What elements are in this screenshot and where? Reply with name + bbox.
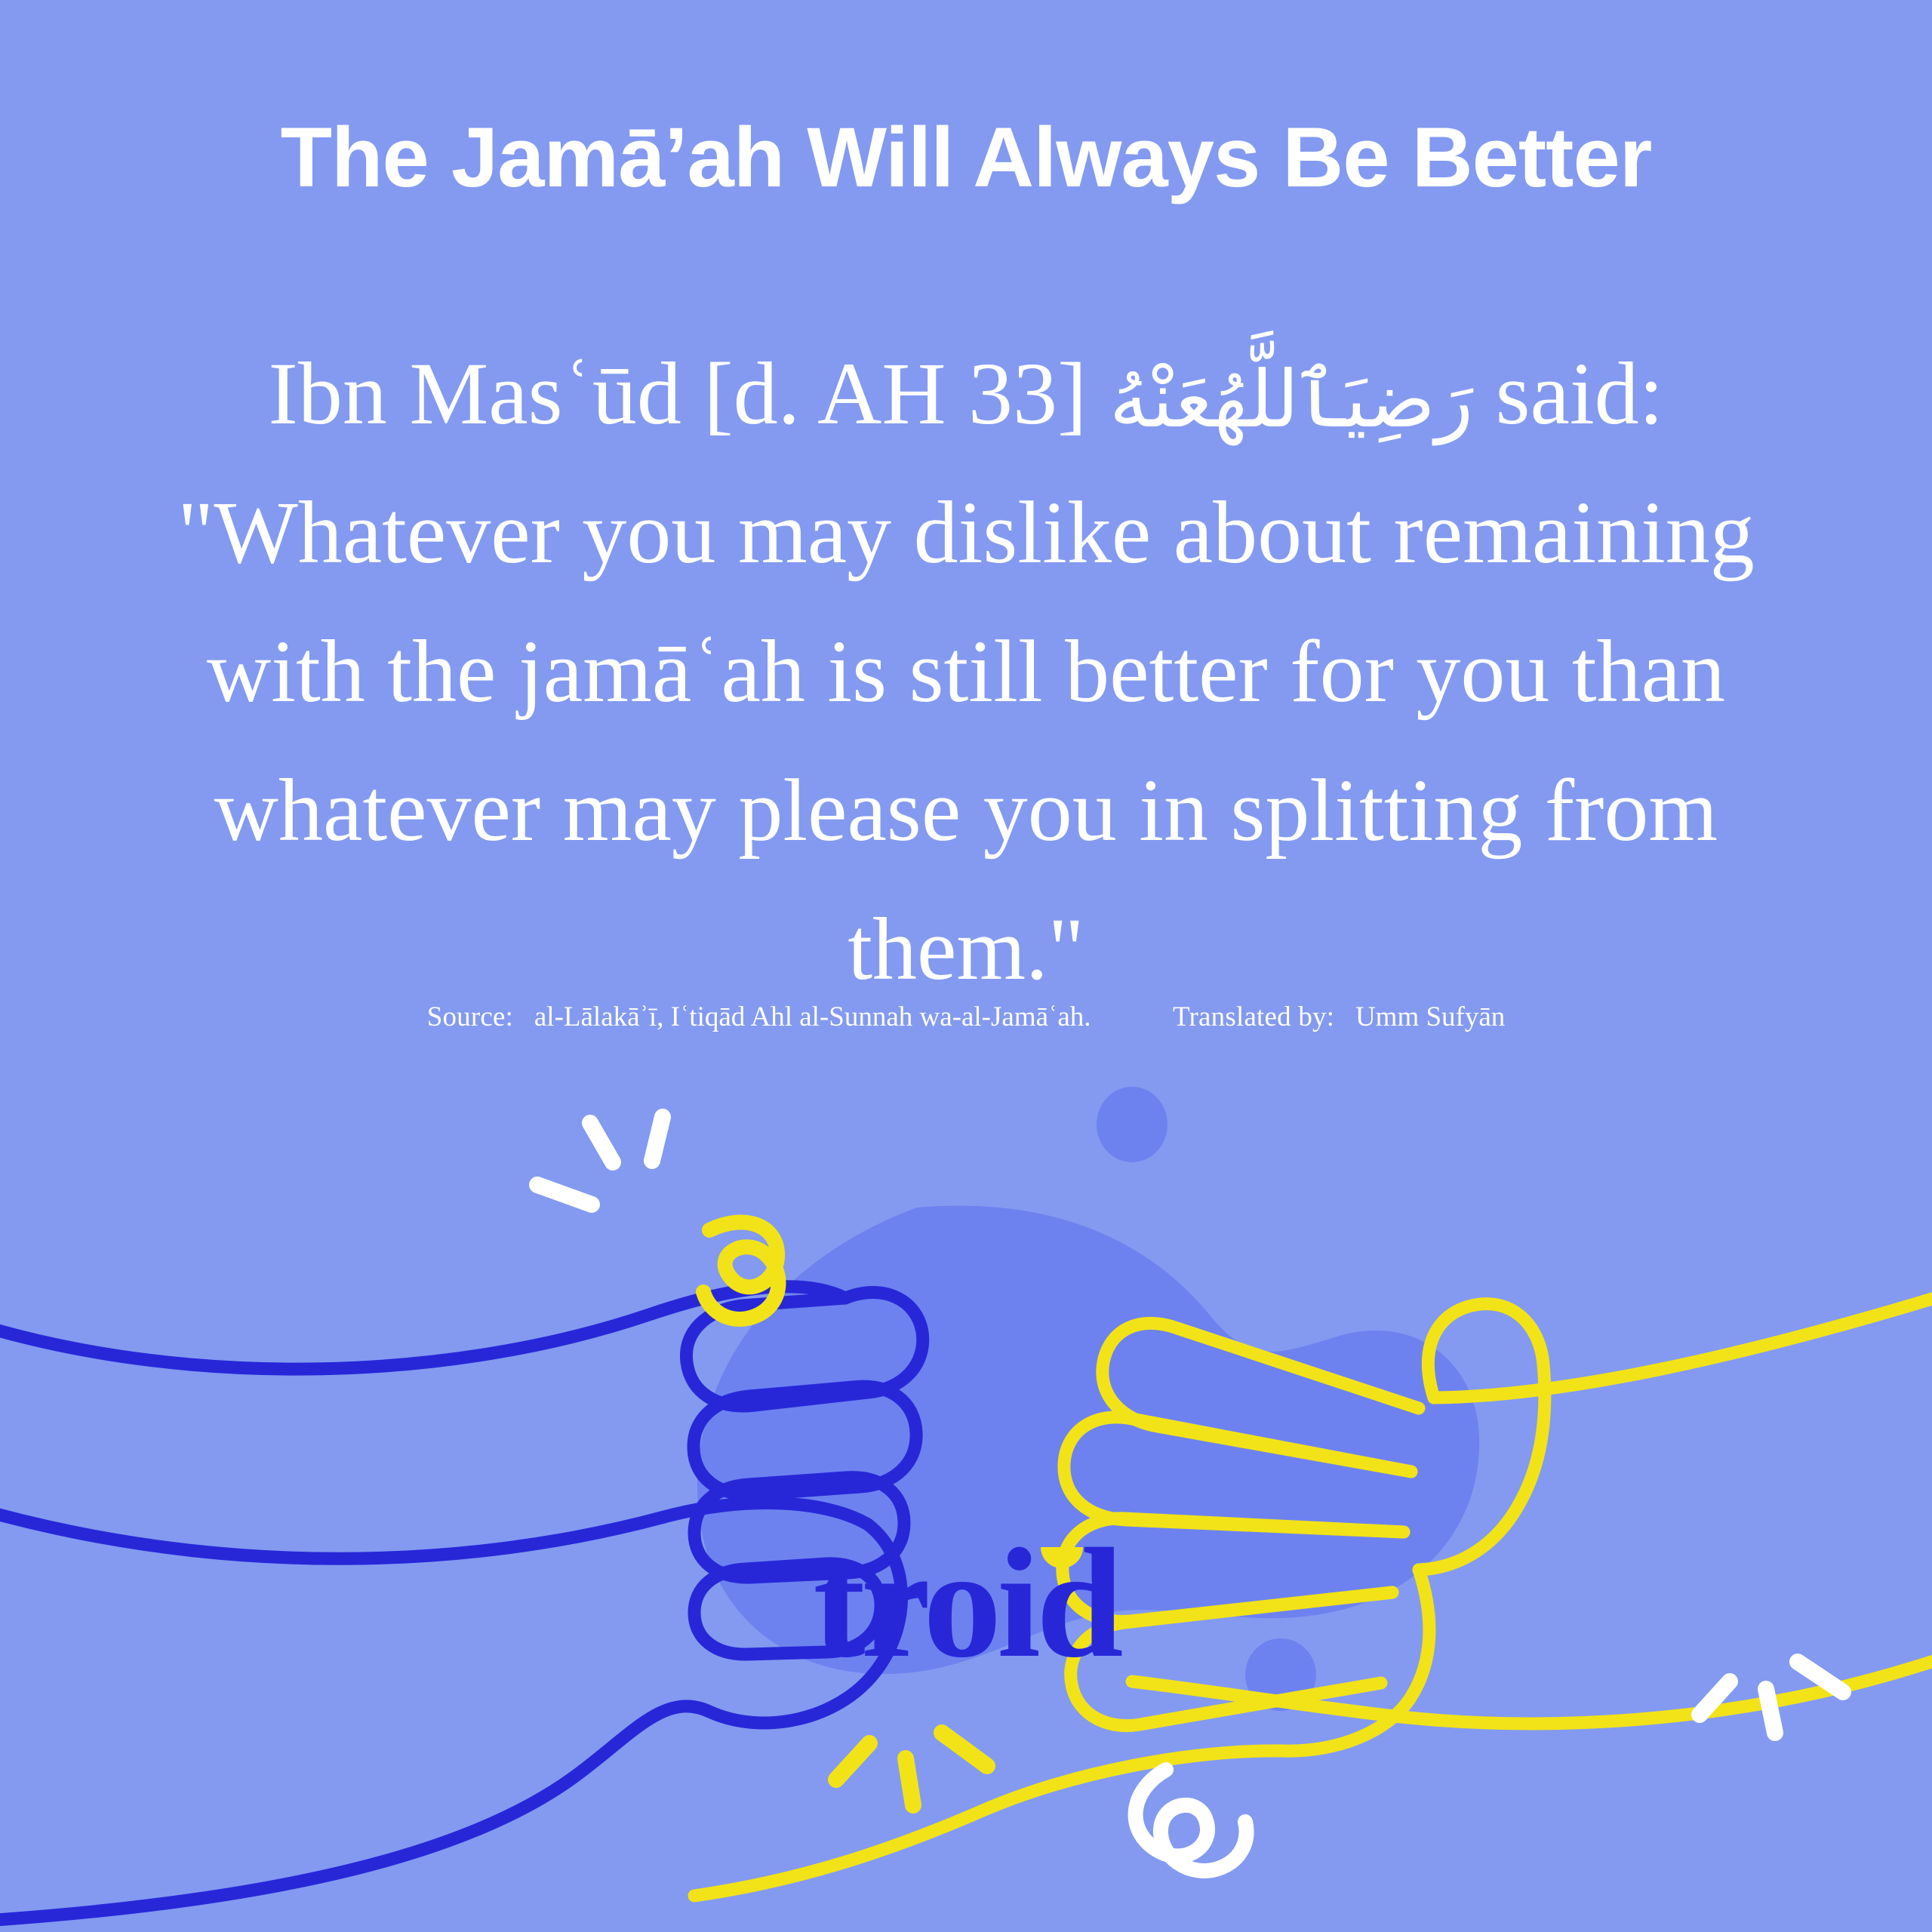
- troid-logo[interactable]: troid: [0, 1524, 1932, 1681]
- source-label: Source:: [427, 1001, 513, 1032]
- source-value: al-Lālakāʾī, Iʿtiqād Ahl al-Sunnah wa-al…: [534, 1001, 1091, 1032]
- credits-line: Source: al-Lālakāʾī, Iʿtiqād Ahl al-Sunn…: [0, 1001, 1932, 1033]
- white-sparkle-upper-left: [537, 1117, 663, 1204]
- page-title: The Jamā’ah Will Always Be Better: [0, 113, 1932, 202]
- radiyallahu-anhu-honorific-icon: رَضِيَٱللَّهُعَنْهُ: [1109, 353, 1473, 445]
- quote-block: Ibn Masʿūd [d. AH 33] رَضِيَٱللَّهُعَنْه…: [166, 325, 1766, 1019]
- poster-canvas: The Jamā’ah Will Always Be Better Ibn Ma…: [0, 0, 1932, 1932]
- quote-attribution-prefix: Ibn Masʿūd [d. AH 33]: [269, 344, 1088, 443]
- yellow-sparkle-bottom-center: [836, 1733, 987, 1805]
- troid-wordmark: troid: [813, 1516, 1118, 1690]
- quote-body: "Whatever you may dislike about remainin…: [177, 483, 1755, 998]
- white-squiggle-bottom-center: [1136, 1770, 1247, 1871]
- small-circle-top: [1097, 1087, 1168, 1162]
- translator-label: Translated by:: [1173, 1001, 1334, 1032]
- translator-value: Umm Sufyān: [1355, 1001, 1505, 1032]
- quote-attribution-suffix: said:: [1496, 344, 1664, 443]
